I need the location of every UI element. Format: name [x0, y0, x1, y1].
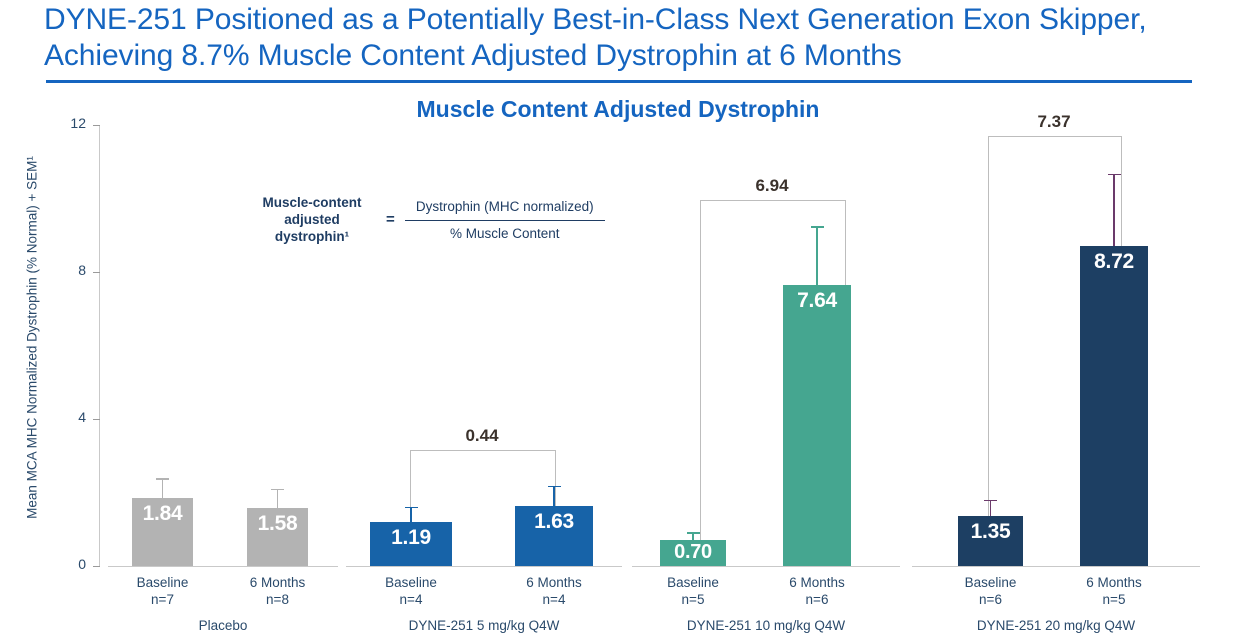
sample-size-label: n=6	[757, 591, 877, 608]
bar[interactable]: 7.64	[783, 285, 851, 566]
timepoint-label: Baseline	[931, 574, 1051, 591]
y-axis-tick-label: 12	[28, 115, 86, 131]
bar-value-label: 1.58	[247, 512, 308, 536]
y-axis-tick-label: 0	[28, 556, 86, 572]
bar[interactable]: 1.35	[958, 516, 1023, 566]
sample-size-label: n=8	[218, 591, 338, 608]
formula-left-side: Muscle-content adjusted dystrophin¹	[248, 194, 376, 245]
y-axis-tick	[93, 419, 100, 420]
timepoint-label: Baseline	[351, 574, 471, 591]
bracket-delta-label: 6.94	[700, 176, 844, 196]
bar[interactable]: 1.19	[370, 522, 452, 566]
bar[interactable]: 1.63	[515, 506, 593, 566]
sample-size-label: n=4	[351, 591, 471, 608]
bar-value-label: 8.72	[1080, 250, 1148, 274]
group-baseline	[346, 566, 622, 567]
error-bar	[162, 478, 164, 498]
error-bar-cap	[548, 486, 561, 488]
y-axis-tick	[93, 566, 100, 567]
timepoint-label: Baseline	[633, 574, 753, 591]
sample-size-label: n=5	[1054, 591, 1174, 608]
bar-value-label: 1.63	[515, 510, 593, 534]
x-axis-tick-label: Baselinen=4	[351, 574, 471, 608]
group-baseline	[912, 566, 1200, 567]
formula-right-side: Dystrophin (MHC normalized) % Muscle Con…	[405, 199, 605, 241]
timepoint-label: 6 Months	[757, 574, 877, 591]
timepoint-label: 6 Months	[494, 574, 614, 591]
x-axis-tick-label: Baselinen=7	[103, 574, 223, 608]
x-axis-tick-label: Baselinen=6	[931, 574, 1051, 608]
group-label: DYNE-251 20 mg/kg Q4W	[912, 618, 1200, 633]
error-bar	[990, 500, 992, 517]
y-axis-tick	[93, 272, 100, 273]
bar-value-label: 0.70	[660, 541, 726, 564]
error-bar-cap	[687, 532, 700, 534]
bar-value-label: 1.84	[132, 502, 193, 526]
bar[interactable]: 0.70	[660, 540, 726, 566]
error-bar	[553, 486, 555, 506]
group-label: Placebo	[108, 618, 338, 633]
timepoint-label: 6 Months	[218, 574, 338, 591]
timepoint-label: 6 Months	[1054, 574, 1174, 591]
error-bar	[1113, 174, 1115, 246]
title-divider	[46, 80, 1192, 83]
bar-value-label: 1.35	[958, 520, 1023, 544]
sample-size-label: n=5	[633, 591, 753, 608]
error-bar	[410, 507, 412, 522]
y-axis-line	[99, 125, 100, 567]
error-bar-cap	[156, 478, 169, 480]
y-axis-label: Mean MCA MHC Normalized Dystrophin (% No…	[25, 108, 40, 568]
bar[interactable]: 8.72	[1080, 246, 1148, 566]
bar-value-label: 7.64	[783, 289, 851, 313]
error-bar-cap	[405, 507, 418, 509]
y-axis-tick-label: 4	[28, 409, 86, 425]
bar-value-label: 1.19	[370, 526, 452, 550]
x-axis-tick-label: 6 Monthsn=4	[494, 574, 614, 608]
error-bar	[277, 489, 279, 508]
error-bar-cap	[811, 226, 824, 228]
x-axis-tick-label: 6 Monthsn=5	[1054, 574, 1174, 608]
y-axis-tick	[93, 125, 100, 126]
group-baseline	[632, 566, 900, 567]
bracket-delta-label: 0.44	[410, 426, 554, 446]
page-title: DYNE-251 Positioned as a Potentially Bes…	[44, 2, 1204, 74]
chart-container: Muscle Content Adjusted Dystrophin Mean …	[0, 90, 1236, 636]
formula-equals-sign: =	[386, 211, 395, 228]
formula-denominator: % Muscle Content	[405, 224, 605, 241]
sample-size-label: n=4	[494, 591, 614, 608]
sample-size-label: n=6	[931, 591, 1051, 608]
error-bar-cap	[271, 489, 284, 491]
formula-annotation: Muscle-content adjusted dystrophin¹ = Dy…	[248, 194, 608, 245]
bar[interactable]: 1.58	[247, 508, 308, 566]
formula-numerator: Dystrophin (MHC normalized)	[405, 199, 605, 218]
error-bar	[816, 226, 818, 285]
bracket-delta-label: 7.37	[988, 112, 1120, 132]
timepoint-label: Baseline	[103, 574, 223, 591]
bar[interactable]: 1.84	[132, 498, 193, 566]
x-axis-tick-label: Baselinen=5	[633, 574, 753, 608]
x-axis-tick-label: 6 Monthsn=6	[757, 574, 877, 608]
sample-size-label: n=7	[103, 591, 223, 608]
group-label: DYNE-251 10 mg/kg Q4W	[632, 618, 900, 633]
error-bar-cap	[984, 500, 997, 502]
y-axis-tick-label: 8	[28, 262, 86, 278]
formula-fraction-bar	[405, 220, 605, 221]
x-axis-tick-label: 6 Monthsn=8	[218, 574, 338, 608]
group-label: DYNE-251 5 mg/kg Q4W	[346, 618, 622, 633]
group-baseline	[108, 566, 338, 567]
error-bar-cap	[1108, 174, 1121, 176]
